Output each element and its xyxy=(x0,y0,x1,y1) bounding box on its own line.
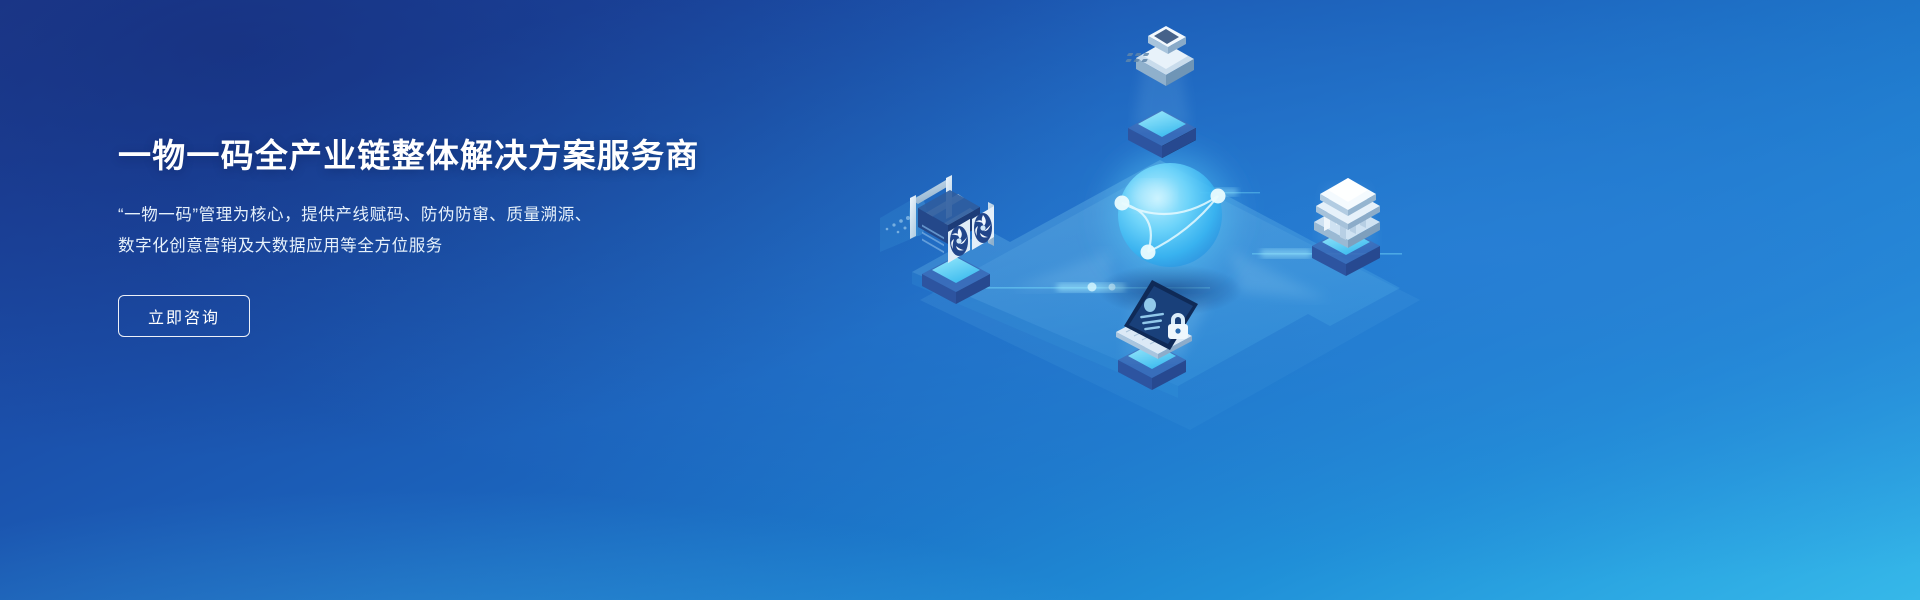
isometric-illustration xyxy=(860,0,1560,600)
consult-now-button[interactable]: 立即咨询 xyxy=(118,295,250,337)
hero-copy: 一物一码全产业链整体解决方案服务商 “一物一码”管理为核心，提供产线赋码、防伪防… xyxy=(118,134,758,337)
subtitle-line-1: “一物一码”管理为核心，提供产线赋码、防伪防窜、质量溯源、 xyxy=(118,200,758,231)
pos-terminal-icon xyxy=(1125,26,1194,86)
node-server-fans xyxy=(880,175,998,304)
subtitle-line-2: 数字化创意营销及大数据应用等全方位服务 xyxy=(118,231,758,262)
page-title: 一物一码全产业链整体解决方案服务商 xyxy=(118,134,758,178)
hero-subtitle: “一物一码”管理为核心，提供产线赋码、防伪防窜、质量溯源、 数字化创意营销及大数… xyxy=(118,200,758,262)
node-bank-building xyxy=(1312,178,1380,276)
hero-banner: 一物一码全产业链整体解决方案服务商 “一物一码”管理为核心，提供产线赋码、防伪防… xyxy=(0,0,1920,600)
node-pos-terminal xyxy=(1125,26,1196,158)
